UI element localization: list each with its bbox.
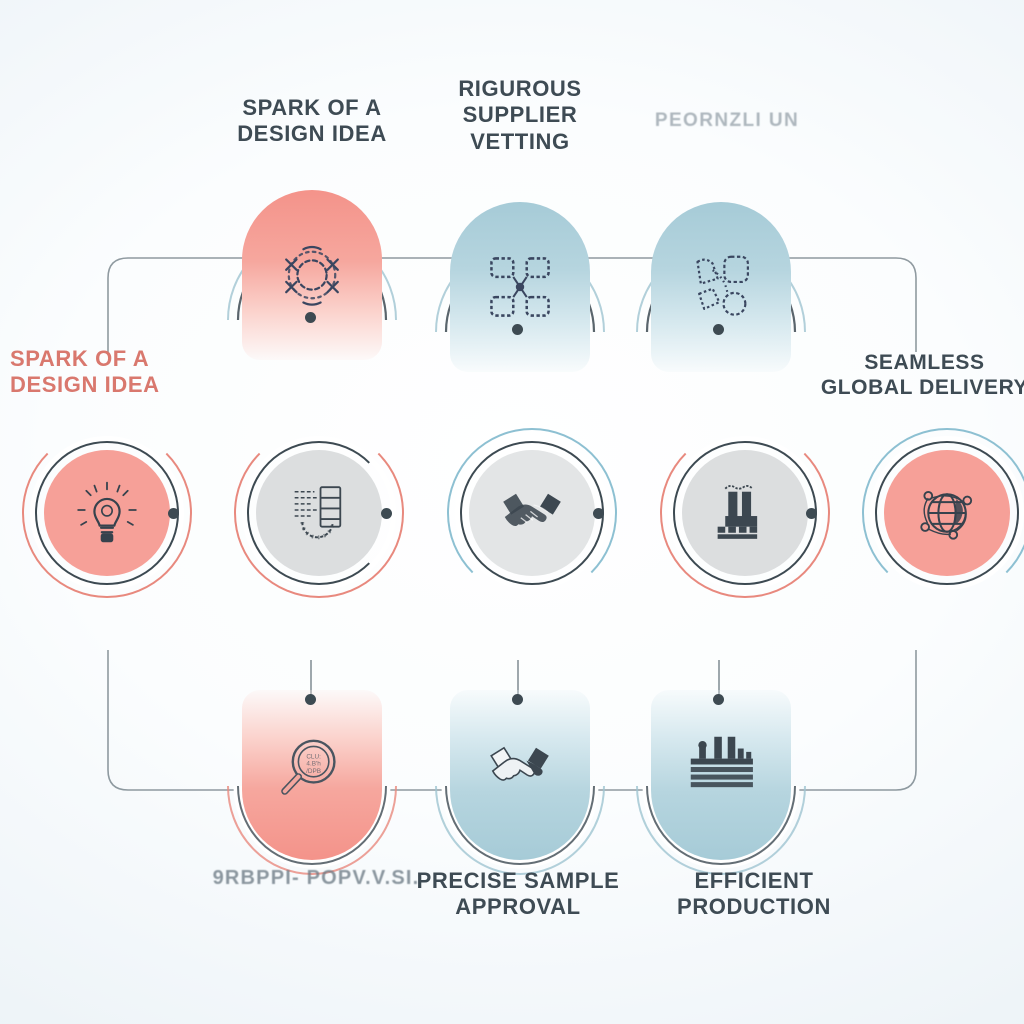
svg-text:4.B'h: 4.B'h [306, 761, 321, 768]
top-card-3-label: PEORNZLI UN [627, 110, 827, 133]
node-4-disc [682, 450, 808, 576]
globe-network-icon [908, 474, 986, 552]
checklist-document-icon [281, 475, 357, 551]
node-3-disc [469, 450, 595, 576]
connector-dot-bottom-1 [305, 694, 316, 705]
connector-dot-bottom-3 [713, 694, 724, 705]
factory-icon [707, 475, 783, 551]
middle-node-4[interactable] [660, 428, 830, 598]
magnifier-icon: CLU: 4.B'h /DPB [272, 728, 352, 808]
connector-dot-bottom-2 [512, 694, 523, 705]
top-card-3[interactable] [651, 202, 791, 372]
middle-node-2[interactable] [234, 428, 404, 598]
lightbulb-icon [70, 476, 144, 550]
handshake-icon [492, 473, 572, 553]
bottom-card-3[interactable] [651, 690, 791, 860]
connector-dot-mid-4 [806, 508, 817, 519]
abstract-cluster-icon [679, 245, 763, 329]
connector-dot-top-1 [305, 312, 316, 323]
bottom-card-1[interactable]: CLU: 4.B'h /DPB [242, 690, 382, 860]
middle-node-5[interactable] [862, 428, 1024, 598]
connector-dot-top-3 [713, 324, 724, 335]
infographic-canvas: SPARK OF A DESIGN IDEA RIGUROUS SUPPLIER… [0, 0, 1024, 1024]
middle-node-5-label: SEAMLESS GLOBAL DELIVERY [812, 350, 1024, 400]
network-nodes-icon [478, 245, 562, 329]
bottom-card-2[interactable] [450, 690, 590, 860]
top-card-1[interactable] [242, 190, 382, 360]
middle-node-1-label: SPARK OF A DESIGN IDEA [10, 346, 240, 399]
gear-wreath-icon [269, 232, 355, 318]
node-5-disc [884, 450, 1010, 576]
node-2-disc [256, 450, 382, 576]
top-card-1-label: SPARK OF A DESIGN IDEA [212, 95, 412, 148]
svg-text:/DPB: /DPB [306, 768, 321, 775]
node-1-disc [44, 450, 170, 576]
middle-node-3[interactable] [447, 428, 617, 598]
top-card-2-label: RIGUROUS SUPPLIER VETTING [430, 76, 610, 155]
svg-text:CLU:: CLU: [306, 753, 321, 760]
bottom-card-2-label: PRECISE SAMPLE APPROVAL [408, 868, 628, 921]
handshake-icon [480, 727, 560, 807]
connector-dot-mid-1 [168, 508, 179, 519]
connector-dot-top-2 [512, 324, 523, 335]
factory-skyline-icon [679, 725, 763, 809]
connector-dot-mid-3 [593, 508, 604, 519]
middle-node-1[interactable] [22, 428, 192, 598]
bottom-card-1-label: 9RBPPI- POPV.V.SI. [196, 866, 436, 890]
top-card-2[interactable] [450, 202, 590, 372]
connector-dot-mid-2 [381, 508, 392, 519]
bottom-card-3-label: EFFICIENT PRODUCTION [646, 868, 862, 921]
